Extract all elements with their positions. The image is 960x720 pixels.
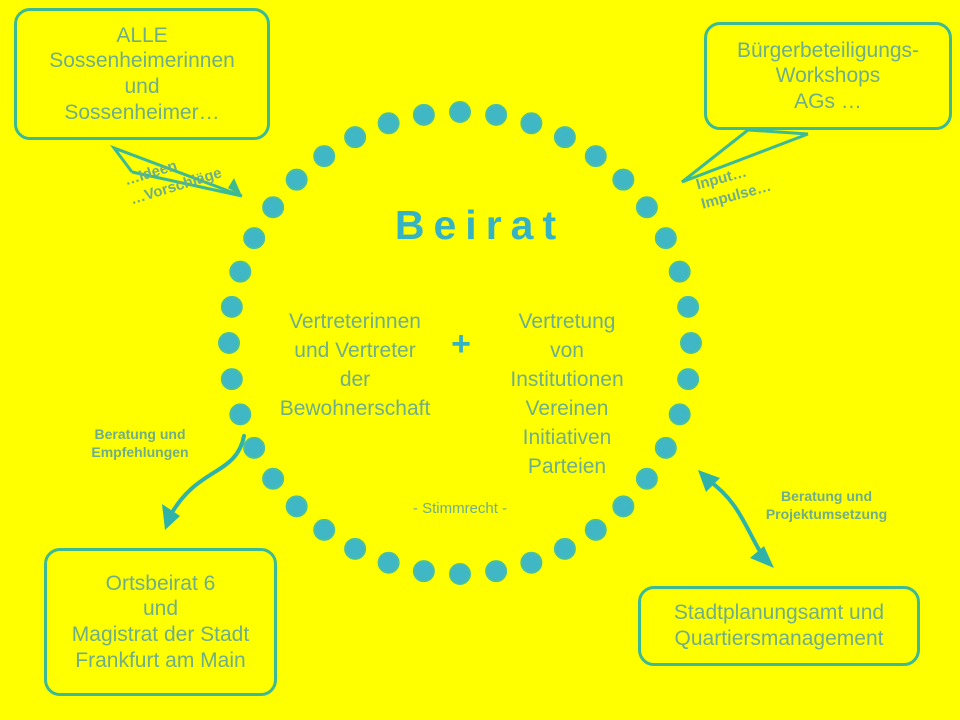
ring-dot — [656, 438, 676, 458]
ring-dot — [314, 520, 334, 540]
footnote-stimmrecht: - Stimmrecht - — [330, 500, 590, 517]
center-column-institutionen: Vertretung von Institutionen Vereinen In… — [478, 308, 656, 482]
bubble-buergerbeteiligung-workshops[interactable]: Bürgerbeteiligungs- Workshops AGs … — [704, 22, 952, 130]
ring-dot — [555, 539, 575, 559]
ring-dot — [379, 553, 399, 573]
arrow-beratung-empfehlungen — [140, 428, 270, 548]
ring-dot — [222, 369, 242, 389]
ring-dot — [586, 146, 606, 166]
diagram-canvas: ALLE Sossenheimerinnen und Sossenheimer…… — [0, 0, 960, 720]
ring-dot — [486, 105, 506, 125]
ring-dot — [670, 404, 690, 424]
plus-sign-icon: + — [443, 327, 479, 361]
ring-dot — [678, 297, 698, 317]
ring-dot — [414, 561, 434, 581]
bubble-ortsbeirat-magistrat[interactable]: Ortsbeirat 6 und Magistrat der Stadt Fra… — [44, 548, 277, 696]
page-title-beirat: Beirat — [0, 202, 960, 249]
ring-dot — [678, 369, 698, 389]
ring-dot — [586, 520, 606, 540]
arrow-beratung-projektumsetzung — [684, 458, 804, 578]
bubble-stadtplanungsamt-quartiersmanagement[interactable]: Stadtplanungsamt und Quartiersmanagement — [638, 586, 920, 666]
ring-dot — [670, 262, 690, 282]
ring-dot — [287, 496, 307, 516]
ring-dot — [219, 333, 239, 353]
ring-dot — [414, 105, 434, 125]
ring-dot — [681, 333, 701, 353]
ring-dot — [230, 404, 250, 424]
ring-dot — [379, 113, 399, 133]
ring-dot — [450, 564, 470, 584]
ring-dot — [314, 146, 334, 166]
ring-dot — [613, 496, 633, 516]
ring-dot — [613, 170, 633, 190]
ring-dot — [521, 553, 541, 573]
bubble-alle-sossenheimer[interactable]: ALLE Sossenheimerinnen und Sossenheimer… — [14, 8, 270, 140]
ring-dot — [521, 113, 541, 133]
ring-dot — [222, 297, 242, 317]
ring-dot — [486, 561, 506, 581]
center-column-bewohnerschaft: Vertreterinnen und Vertreter der Bewohne… — [266, 308, 444, 424]
ring-dot — [345, 539, 365, 559]
ring-dot — [555, 127, 575, 147]
ring-dot — [345, 127, 365, 147]
ring-dot — [450, 102, 470, 122]
ring-dot — [230, 262, 250, 282]
